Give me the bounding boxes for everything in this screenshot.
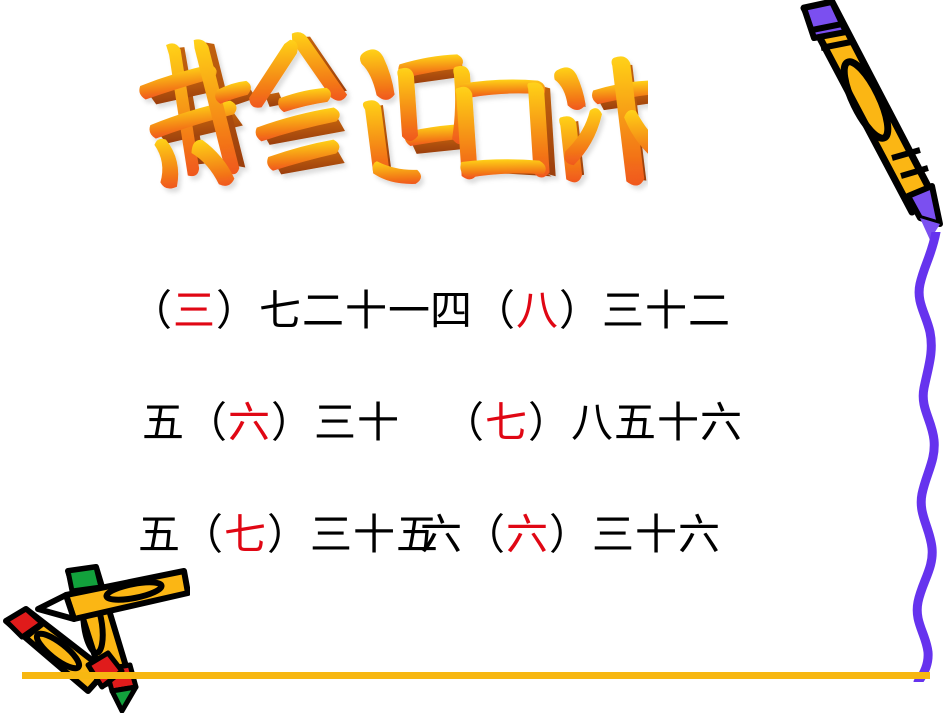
rhyme-item: （三）七二十一 [0, 290, 420, 332]
rhyme-suffix: ）七二十一 [216, 286, 431, 335]
rhyme-suffix: ）八五十六 [528, 398, 743, 447]
rhyme-suffix: ）三十五 [267, 510, 439, 559]
rhyme-prefix: 五（ [138, 510, 224, 559]
crayon-icon [780, 0, 950, 245]
rhyme-row: 五（六）三十 （七）八五十六 [0, 367, 950, 479]
page-title [128, 28, 648, 233]
rhyme-answer: 八 [516, 286, 559, 335]
rhyme-list: （三）七二十一 四（八）三十二 五（六）三十 （七）八五十六 五（七）三十五 六… [0, 255, 950, 591]
rhyme-row: （三）七二十一 四（八）三十二 [0, 255, 950, 367]
rhyme-prefix: 四（ [430, 286, 516, 335]
rhyme-prefix: （ [130, 286, 173, 335]
rhyme-answer: 六 [506, 510, 549, 559]
rhyme-item: （七）八五十六 [420, 402, 860, 444]
rhyme-answer: 七 [485, 398, 528, 447]
rhyme-suffix: ）三十 [271, 398, 400, 447]
rhyme-answer: 七 [224, 510, 267, 559]
rhyme-item: 四（八）三十二 [420, 290, 860, 332]
rhyme-item: 五（六）三十 [0, 402, 420, 444]
rhyme-row: 五（七）三十五 六（六）三十六 [0, 479, 950, 591]
rhyme-item: 五（七）三十五 [0, 514, 420, 556]
rhyme-answer: 六 [228, 398, 271, 447]
rhyme-prefix: 六（ [420, 510, 506, 559]
rhyme-suffix: ）三十二 [559, 286, 731, 335]
rhyme-item: 六（六）三十六 [420, 514, 860, 556]
rhyme-suffix: ）三十六 [549, 510, 721, 559]
rhyme-prefix: 五（ [142, 398, 228, 447]
rhyme-prefix: （ [442, 398, 485, 447]
slide-canvas: 我会记口诀 （三）七二十一 四（八）三十二 五（六）三十 （七）八五十六 五（七… [0, 0, 950, 713]
horizontal-rule-decoration [22, 672, 930, 679]
rhyme-answer: 三 [173, 286, 216, 335]
